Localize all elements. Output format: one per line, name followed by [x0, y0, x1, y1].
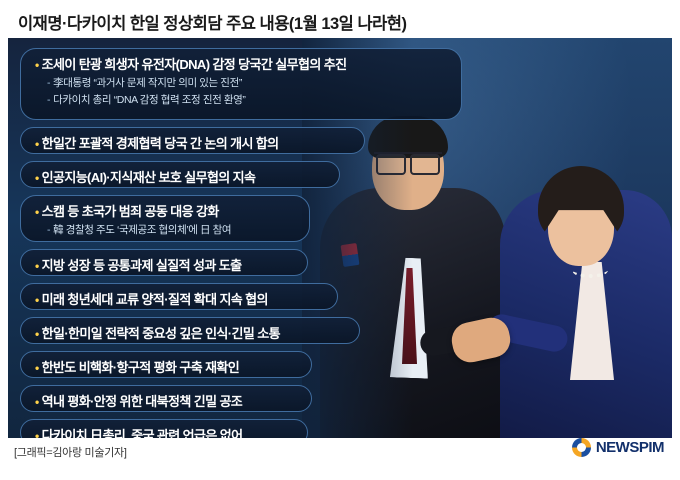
- page-title: 이재명·다카이치 한일 정상회담 주요 내용(1월 13일 나라현): [18, 10, 406, 34]
- bullet-icon: •: [35, 395, 39, 409]
- list-item-main: •미래 청년세대 교류 양적·질적 확대 지속 협의: [35, 289, 323, 308]
- list-item: •다카이치 日총리, 중국 관련 언급은 없어: [20, 419, 308, 438]
- list-item: •스캠 등 초국가 범죄 공동 대응 강화 -韓 경찰청 주도 ‘국제공조 협의…: [20, 195, 310, 242]
- bullet-list: •조세이 탄광 희생자 유전자(DNA) 감정 당국간 실무협의 추진 -李대통…: [8, 38, 672, 438]
- newspim-mark-icon: [572, 438, 591, 457]
- list-item-sub-text: 다카이치 총리 “DNA 감정 협력 조정 진전 환영”: [53, 94, 245, 106]
- bullet-icon: •: [35, 293, 39, 307]
- list-item-text: 인공지능(AI)·지식재산 보호 실무협의 지속: [42, 170, 256, 185]
- sub-dash-icon: -: [47, 94, 50, 106]
- list-item-text: 다카이치 日총리, 중국 관련 언급은 없어: [42, 428, 243, 438]
- list-item-main: •한일간 포괄적 경제협력 당국 간 논의 개시 합의: [35, 133, 350, 152]
- list-item: •한일·한미일 전략적 중요성 깊은 인식·긴밀 소통: [20, 317, 360, 344]
- list-item: •미래 청년세대 교류 양적·질적 확대 지속 협의: [20, 283, 338, 310]
- list-item-sub: -李대통령 “과거사 문제 작지만 의미 있는 진전”: [35, 75, 447, 90]
- newspim-logo-text: NEWSPIM: [596, 439, 664, 456]
- list-item-main: •다카이치 日총리, 중국 관련 언급은 없어: [35, 425, 293, 438]
- bullet-icon: •: [35, 171, 39, 185]
- list-item-text: 스캠 등 초국가 범죄 공동 대응 강화: [42, 204, 219, 219]
- bullet-icon: •: [35, 361, 39, 375]
- bullet-icon: •: [35, 58, 39, 72]
- list-item-main: •지방 성장 등 공통과제 실질적 성과 도출: [35, 255, 293, 274]
- sub-dash-icon: -: [47, 77, 50, 89]
- list-item-main: •한반도 비핵화·항구적 평화 구축 재확인: [35, 357, 297, 376]
- list-item-main: •조세이 탄광 희생자 유전자(DNA) 감정 당국간 실무협의 추진: [35, 54, 447, 73]
- list-item-text: 조세이 탄광 희생자 유전자(DNA) 감정 당국간 실무협의 추진: [42, 57, 347, 72]
- list-item: •지방 성장 등 공통과제 실질적 성과 도출: [20, 249, 308, 276]
- list-item-text: 지방 성장 등 공통과제 실질적 성과 도출: [42, 258, 242, 273]
- list-item-sub-text: 李대통령 “과거사 문제 작지만 의미 있는 진전”: [53, 77, 242, 89]
- list-item-main: •역내 평화·안정 위한 대북정책 긴밀 공조: [35, 391, 297, 410]
- list-item: •역내 평화·안정 위한 대북정책 긴밀 공조: [20, 385, 312, 412]
- list-item-text: 역내 평화·안정 위한 대북정책 긴밀 공조: [42, 394, 243, 409]
- infographic-page: 이재명·다카이치 한일 정상회담 주요 내용(1월 13일 나라현): [0, 0, 680, 480]
- list-item: •조세이 탄광 희생자 유전자(DNA) 감정 당국간 실무협의 추진 -李대통…: [20, 48, 462, 120]
- newspim-logo: NEWSPIM: [572, 438, 664, 457]
- graphic-credit: [그래픽=김아랑 미술기자]: [14, 444, 127, 460]
- list-item-sub: -韓 경찰청 주도 ‘국제공조 협의체’에 日 참여: [35, 222, 295, 237]
- bullet-icon: •: [35, 259, 39, 273]
- list-item-main: •한일·한미일 전략적 중요성 깊은 인식·긴밀 소통: [35, 323, 345, 342]
- bullet-icon: •: [35, 429, 39, 438]
- list-item: •인공지능(AI)·지식재산 보호 실무협의 지속: [20, 161, 340, 188]
- list-item-sub: -다카이치 총리 “DNA 감정 협력 조정 진전 환영”: [35, 92, 447, 107]
- list-item: •한일간 포괄적 경제협력 당국 간 논의 개시 합의: [20, 127, 365, 154]
- list-item-text: 한반도 비핵화·항구적 평화 구축 재확인: [42, 360, 240, 375]
- sub-dash-icon: -: [47, 224, 50, 236]
- list-item: •한반도 비핵화·항구적 평화 구축 재확인: [20, 351, 312, 378]
- list-item-text: 한일간 포괄적 경제협력 당국 간 논의 개시 합의: [42, 136, 279, 151]
- infographic-board: •조세이 탄광 희생자 유전자(DNA) 감정 당국간 실무협의 추진 -李대통…: [8, 38, 672, 438]
- bullet-icon: •: [35, 137, 39, 151]
- list-item-main: •스캠 등 초국가 범죄 공동 대응 강화: [35, 201, 295, 220]
- bullet-icon: •: [35, 205, 39, 219]
- list-item-sub-text: 韓 경찰청 주도 ‘국제공조 협의체’에 日 참여: [53, 224, 231, 236]
- list-item-text: 한일·한미일 전략적 중요성 깊은 인식·긴밀 소통: [42, 326, 280, 341]
- list-item-main: •인공지능(AI)·지식재산 보호 실무협의 지속: [35, 167, 325, 186]
- bullet-icon: •: [35, 327, 39, 341]
- list-item-text: 미래 청년세대 교류 양적·질적 확대 지속 협의: [42, 292, 268, 307]
